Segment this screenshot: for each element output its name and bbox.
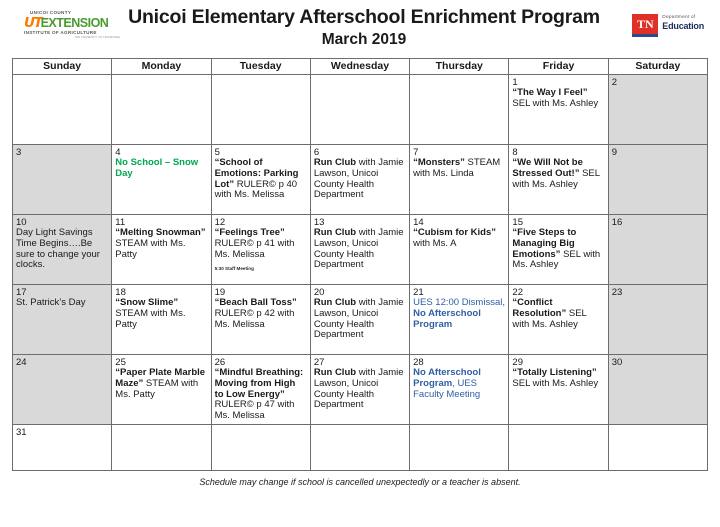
day-number: 23 — [612, 287, 704, 298]
day-event-text: No Afterschool Program, UES Faculty Meet… — [413, 368, 505, 400]
day-event-text: Run Club with Jamie Lawson, Unicoi Count… — [314, 228, 406, 271]
day-cell-24[interactable]: 24 — [13, 355, 112, 425]
day-number: 3 — [16, 147, 108, 158]
event-detail: STEAM with Ms. Patty — [115, 238, 185, 260]
day-cell-30[interactable]: 30 — [608, 355, 707, 425]
weekday-header-friday: Friday — [509, 59, 608, 75]
weekday-header-wednesday: Wednesday — [310, 59, 409, 75]
day-cell-23[interactable]: 23 — [608, 285, 707, 355]
weekday-header-saturday: Saturday — [608, 59, 707, 75]
day-number: 31 — [16, 427, 108, 438]
calendar-header-row: Sunday Monday Tuesday Wednesday Thursday… — [13, 59, 708, 75]
footer-note: Schedule may change if school is cancell… — [0, 477, 720, 487]
day-event-text: “School of Emotions: Parking Lot” RULER©… — [215, 158, 307, 201]
event-title: “Monsters” — [413, 157, 465, 168]
calendar-week-row: 31 — [13, 425, 708, 471]
day-event-text: Day Light Savings Time Begins….Be sure t… — [16, 228, 108, 271]
calendar-week-row: 2425“Paper Plate Marble Maze” STEAM with… — [13, 355, 708, 425]
event-detail: RULER© p 47 with Ms. Melissa — [215, 399, 295, 421]
event-detail: St. Patrick’s Day — [16, 297, 86, 308]
event-detail: Day Light Savings Time Begins….Be sure t… — [16, 227, 100, 270]
day-event-text: “Conflict Resolution” SEL with Ms. Ashle… — [512, 298, 604, 330]
schedule-change-notice: UES 12:00 Dismissal, — [413, 297, 505, 308]
day-cell-14[interactable]: 14“Cubism for Kids” with Ms. A — [410, 215, 509, 285]
calendar-page: UNICOI COUNTY UT EXTENSION INSTITUTE OF … — [0, 0, 720, 527]
event-title: “Feelings Tree” — [215, 227, 285, 238]
day-cell-empty[interactable] — [310, 75, 409, 145]
day-cell-empty[interactable] — [112, 425, 211, 471]
day-event-text: “We Will Not be Stressed Out!” SEL with … — [512, 158, 604, 190]
day-cell-27[interactable]: 27Run Club with Jamie Lawson, Unicoi Cou… — [310, 355, 409, 425]
day-cell-11[interactable]: 11“Melting Snowman” STEAM with Ms. Patty — [112, 215, 211, 285]
calendar-table: Sunday Monday Tuesday Wednesday Thursday… — [12, 58, 708, 471]
day-event-text: Run Club with Jamie Lawson, Unicoi Count… — [314, 298, 406, 341]
event-title: Run Club — [314, 297, 356, 308]
day-event-text: “Paper Plate Marble Maze” STEAM with Ms.… — [115, 368, 207, 400]
calendar-week-row: 34No School – Snow Day5“School of Emotio… — [13, 145, 708, 215]
calendar-week-row: 10Day Light Savings Time Begins….Be sure… — [13, 215, 708, 285]
weekday-header-tuesday: Tuesday — [211, 59, 310, 75]
day-cell-18[interactable]: 18“Snow Slime” STEAM with Ms. Patty — [112, 285, 211, 355]
day-cell-9[interactable]: 9 — [608, 145, 707, 215]
tn-badge-icon: TN — [632, 14, 658, 37]
event-title: “Snow Slime” — [115, 297, 178, 308]
day-cell-28[interactable]: 28No Afterschool Program, UES Faculty Me… — [410, 355, 509, 425]
day-cell-empty[interactable] — [509, 425, 608, 471]
tn-logo-text: Department of Education — [662, 14, 704, 31]
weekday-header-thursday: Thursday — [410, 59, 509, 75]
event-title: “Mindful Breathing: Moving from High to … — [215, 367, 304, 400]
day-cell-empty[interactable] — [410, 425, 509, 471]
day-event-text: Run Club with Jamie Lawson, Unicoi Count… — [314, 158, 406, 201]
tn-education-logo: TN Department of Education — [632, 14, 704, 37]
day-cell-empty[interactable] — [211, 425, 310, 471]
day-event-text: Run Club with Jamie Lawson, Unicoi Count… — [314, 368, 406, 411]
day-cell-22[interactable]: 22“Conflict Resolution” SEL with Ms. Ash… — [509, 285, 608, 355]
day-number: 9 — [612, 147, 704, 158]
day-event-text: “Melting Snowman” STEAM with Ms. Patty — [115, 228, 207, 260]
ut-extension-logo: UNICOI COUNTY UT EXTENSION INSTITUTE OF … — [24, 11, 128, 45]
event-detail: SEL with Ms. Ashley — [512, 378, 598, 389]
day-event-text: “Feelings Tree” RULER© p 41 with Ms. Mel… — [215, 228, 307, 272]
day-cell-2[interactable]: 2 — [608, 75, 707, 145]
day-cell-17[interactable]: 17St. Patrick’s Day — [13, 285, 112, 355]
day-cell-10[interactable]: 10Day Light Savings Time Begins….Be sure… — [13, 215, 112, 285]
day-cell-26[interactable]: 26“Mindful Breathing: Moving from High t… — [211, 355, 310, 425]
ut-logo-university-line: THE UNIVERSITY OF TENNESSEE — [24, 36, 128, 39]
day-cell-12[interactable]: 12“Feelings Tree” RULER© p 41 with Ms. M… — [211, 215, 310, 285]
day-cell-15[interactable]: 15“Five Steps to Managing Big Emotions” … — [509, 215, 608, 285]
day-cell-empty[interactable] — [13, 75, 112, 145]
day-cell-empty[interactable] — [211, 75, 310, 145]
calendar-week-row: 17St. Patrick’s Day18“Snow Slime” STEAM … — [13, 285, 708, 355]
day-event-text: “Monsters” STEAM with Ms. Linda — [413, 158, 505, 180]
day-cell-29[interactable]: 29“Totally Listening” SEL with Ms. Ashle… — [509, 355, 608, 425]
day-cell-5[interactable]: 5“School of Emotions: Parking Lot” RULER… — [211, 145, 310, 215]
staff-meeting-note: 5:30 Staff Meeting — [215, 265, 307, 272]
day-cell-21[interactable]: 21UES 12:00 Dismissal, No Afterschool Pr… — [410, 285, 509, 355]
event-detail: RULER© p 41 with Ms. Melissa — [215, 238, 295, 260]
event-title: “Beach Ball Toss” — [215, 297, 297, 308]
day-event-text: “Totally Listening” SEL with Ms. Ashley — [512, 368, 604, 390]
day-cell-4[interactable]: 4No School – Snow Day — [112, 145, 211, 215]
day-cell-13[interactable]: 13Run Club with Jamie Lawson, Unicoi Cou… — [310, 215, 409, 285]
event-detail: SEL with Ms. Ashley — [512, 98, 598, 109]
day-cell-6[interactable]: 6Run Club with Jamie Lawson, Unicoi Coun… — [310, 145, 409, 215]
event-detail: RULER© p 42 with Ms. Melissa — [215, 308, 295, 330]
day-event-text: No School – Snow Day — [115, 158, 207, 180]
day-event-text: “Cubism for Kids” with Ms. A — [413, 228, 505, 250]
event-title: “Totally Listening” — [512, 367, 596, 378]
day-cell-8[interactable]: 8“We Will Not be Stressed Out!” SEL with… — [509, 145, 608, 215]
day-number: 16 — [612, 217, 704, 228]
calendar-body: 1“The Way I Feel” SEL with Ms. Ashley234… — [13, 75, 708, 471]
weekday-header-sunday: Sunday — [13, 59, 112, 75]
day-cell-empty[interactable] — [310, 425, 409, 471]
day-cell-empty[interactable] — [410, 75, 509, 145]
day-event-text: “Mindful Breathing: Moving from High to … — [215, 368, 307, 422]
event-title: “The Way I Feel” — [512, 87, 587, 98]
day-cell-20[interactable]: 20Run Club with Jamie Lawson, Unicoi Cou… — [310, 285, 409, 355]
weekday-header-monday: Monday — [112, 59, 211, 75]
day-number: 30 — [612, 357, 704, 368]
day-cell-empty[interactable] — [608, 425, 707, 471]
event-title: Run Club — [314, 227, 356, 238]
event-title: “Melting Snowman” — [115, 227, 205, 238]
event-detail: STEAM with Ms. Patty — [115, 308, 185, 330]
day-cell-19[interactable]: 19“Beach Ball Toss” RULER© p 42 with Ms.… — [211, 285, 310, 355]
day-cell-16[interactable]: 16 — [608, 215, 707, 285]
page-title: Unicoi Elementary Afterschool Enrichment… — [114, 6, 614, 29]
event-title: “Cubism for Kids” — [413, 227, 496, 238]
day-number: 24 — [16, 357, 108, 368]
day-event-text: “Five Steps to Managing Big Emotions” SE… — [512, 228, 604, 271]
day-event-text: UES 12:00 Dismissal, No Afterschool Prog… — [413, 298, 505, 330]
day-cell-1[interactable]: 1“The Way I Feel” SEL with Ms. Ashley — [509, 75, 608, 145]
ut-logo-wordmark: UT EXTENSION — [24, 17, 128, 31]
day-cell-31[interactable]: 31 — [13, 425, 112, 471]
day-cell-empty[interactable] — [112, 75, 211, 145]
no-program-notice: No Afterschool Program — [413, 308, 481, 330]
day-number: 2 — [612, 77, 704, 88]
calendar-week-row: 1“The Way I Feel” SEL with Ms. Ashley2 — [13, 75, 708, 145]
ut-logo-mark: UT — [24, 17, 42, 31]
day-event-text: “The Way I Feel” SEL with Ms. Ashley — [512, 88, 604, 110]
day-cell-7[interactable]: 7“Monsters” STEAM with Ms. Linda — [410, 145, 509, 215]
tn-logo-education: Education — [662, 22, 704, 31]
ut-logo-county: UNICOI COUNTY — [30, 11, 128, 16]
day-event-text: St. Patrick’s Day — [16, 298, 108, 309]
event-title: “We Will Not be Stressed Out!” — [512, 157, 582, 179]
day-event-text: “Beach Ball Toss” RULER© p 42 with Ms. M… — [215, 298, 307, 330]
event-detail: with Ms. A — [413, 238, 456, 249]
ut-logo-extension-word: EXTENSION — [41, 17, 109, 30]
event-title: Run Club — [314, 157, 356, 168]
no-school-notice: No School – Snow Day — [115, 157, 198, 179]
day-cell-3[interactable]: 3 — [13, 145, 112, 215]
calendar-wrapper: Sunday Monday Tuesday Wednesday Thursday… — [0, 58, 720, 471]
day-event-text: “Snow Slime” STEAM with Ms. Patty — [115, 298, 207, 330]
page-subtitle-month: March 2019 — [114, 30, 614, 49]
page-header: UNICOI COUNTY UT EXTENSION INSTITUTE OF … — [0, 0, 720, 58]
event-title: “Conflict Resolution” — [512, 297, 566, 319]
event-title: Run Club — [314, 367, 356, 378]
day-cell-25[interactable]: 25“Paper Plate Marble Maze” STEAM with M… — [112, 355, 211, 425]
